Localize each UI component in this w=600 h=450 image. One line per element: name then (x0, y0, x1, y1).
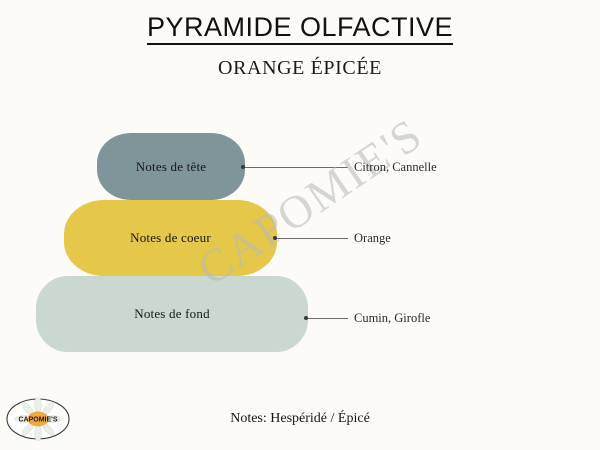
brand-logo: CAPOMIE'S (5, 397, 71, 441)
pyramid-level-top-label: Notes de tête (136, 159, 206, 175)
page-title: PYRAMIDE OLFACTIVE (0, 12, 600, 43)
footer-note-family: Notes: Hespéridé / Épicé (0, 411, 600, 427)
connector-line-base (306, 318, 348, 319)
connector-line-top (243, 167, 348, 168)
pyramid-level-top: Notes de tête (97, 133, 245, 200)
page-title-text: PYRAMIDE OLFACTIVE (147, 12, 453, 45)
pyramid-level-base-label: Notes de fond (134, 306, 210, 322)
pyramid-level-heart: Notes de coeur (64, 200, 277, 276)
brand-logo-text: CAPOMIE'S (18, 417, 57, 424)
daisy-flower-oval-logo-icon: CAPOMIE'S (5, 397, 71, 441)
page-subtitle: ORANGE ÉPICÉE (0, 57, 600, 80)
pyramid-level-base: Notes de fond (36, 276, 308, 352)
connector-dot-top (241, 165, 245, 169)
connector-line-heart (275, 238, 348, 239)
connector-dot-base (304, 316, 308, 320)
connector-dot-heart (273, 236, 277, 240)
ingredient-label-heart: Orange (354, 231, 391, 246)
ingredient-label-base: Cumin, Girofle (354, 311, 430, 326)
olfactory-pyramid-infographic: PYRAMIDE OLFACTIVE ORANGE ÉPICÉE Notes d… (0, 0, 600, 450)
ingredient-label-top: Citron, Cannelle (354, 160, 437, 175)
pyramid-level-heart-label: Notes de coeur (130, 230, 211, 246)
